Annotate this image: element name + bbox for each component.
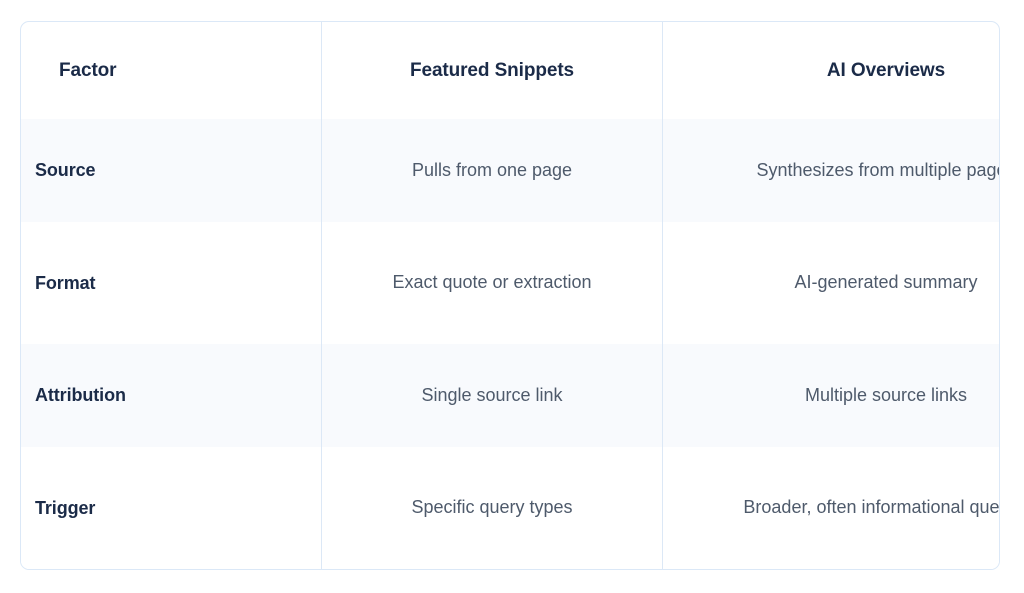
cell-featured-snippets-source: Pulls from one page <box>322 119 663 222</box>
comparison-table-container: Factor Featured Snippets AI Overviews So… <box>20 21 1000 570</box>
table-row: Format Exact quote or extraction AI-gene… <box>21 222 1000 344</box>
table-header-row: Factor Featured Snippets AI Overviews <box>21 22 1000 119</box>
cell-featured-snippets-format: Exact quote or extraction <box>322 222 663 344</box>
table-row: Trigger Specific query types Broader, of… <box>21 447 1000 569</box>
cell-ai-overviews-attribution: Multiple source links <box>663 344 1001 447</box>
cell-factor-trigger: Trigger <box>21 447 322 569</box>
cell-factor-format: Format <box>21 222 322 344</box>
table-header: Factor Featured Snippets AI Overviews <box>21 22 1000 119</box>
cell-ai-overviews-source: Synthesizes from multiple pages <box>663 119 1001 222</box>
column-header-factor: Factor <box>21 22 322 119</box>
comparison-table: Factor Featured Snippets AI Overviews So… <box>21 22 1000 569</box>
column-header-ai-overviews: AI Overviews <box>663 22 1001 119</box>
cell-ai-overviews-trigger: Broader, often informational queries <box>663 447 1001 569</box>
cell-factor-attribution: Attribution <box>21 344 322 447</box>
cell-factor-source: Source <box>21 119 322 222</box>
table-row: Source Pulls from one page Synthesizes f… <box>21 119 1000 222</box>
cell-featured-snippets-trigger: Specific query types <box>322 447 663 569</box>
column-header-featured-snippets: Featured Snippets <box>322 22 663 119</box>
cell-ai-overviews-format: AI-generated summary <box>663 222 1001 344</box>
table-row: Attribution Single source link Multiple … <box>21 344 1000 447</box>
table-body: Source Pulls from one page Synthesizes f… <box>21 119 1000 569</box>
cell-featured-snippets-attribution: Single source link <box>322 344 663 447</box>
